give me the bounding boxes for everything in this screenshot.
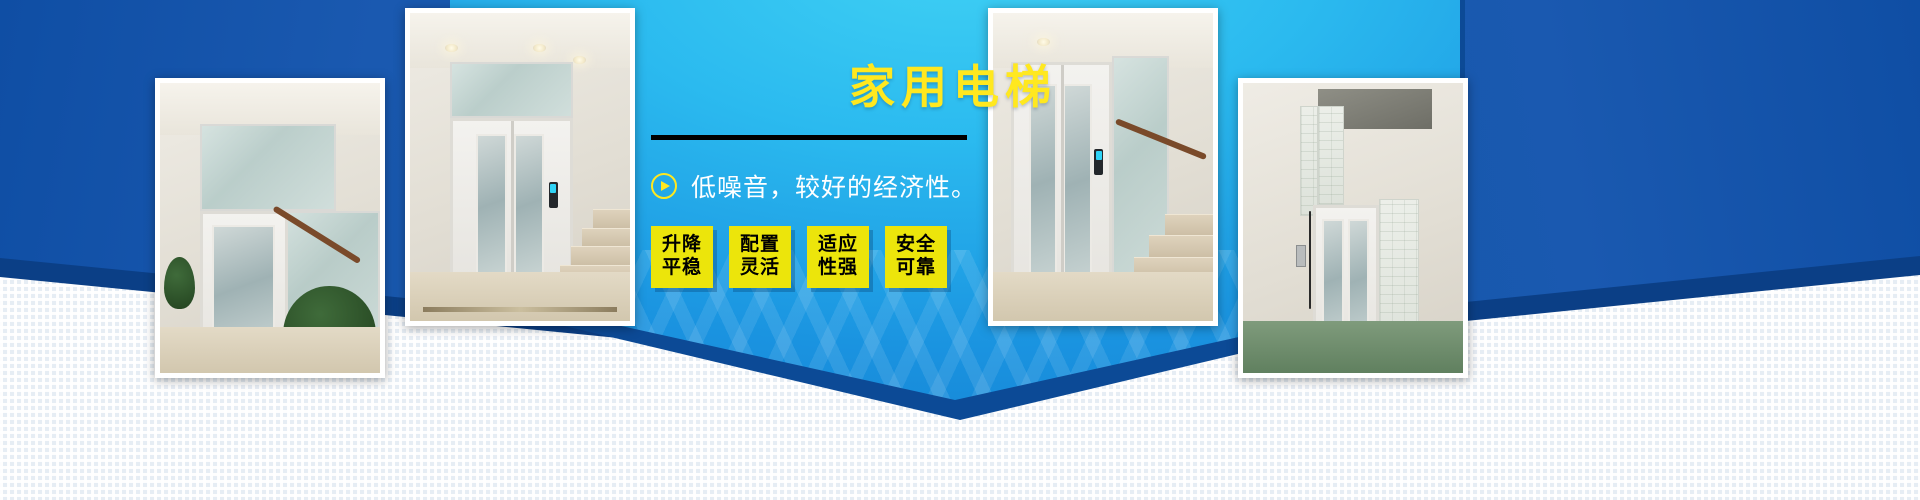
feature-badge[interactable]: 适应 性强 [807, 226, 869, 288]
feature-badge-line2: 平稳 [662, 257, 702, 279]
feature-badge[interactable]: 安全 可靠 [885, 226, 947, 288]
feature-badge-list: 升降 平稳 配置 灵活 适应 性强 安全 可靠 [651, 226, 1275, 288]
feature-badge[interactable]: 升降 平稳 [651, 226, 713, 288]
banner-content: 家用电梯 低噪音，较好的经济性。 升降 平稳 配置 灵活 适应 性强 安全 可靠 [655, 62, 1275, 288]
photo-card-1[interactable] [155, 78, 385, 378]
feature-badge-line1: 配置 [740, 234, 780, 256]
feature-badge[interactable]: 配置 灵活 [729, 226, 791, 288]
tagline-text: 低噪音，较好的经济性。 [691, 168, 977, 204]
play-circle-icon [651, 173, 677, 199]
feature-badge-line2: 灵活 [740, 257, 780, 279]
feature-badge-line2: 性强 [818, 257, 858, 279]
feature-badge-line1: 适应 [818, 234, 858, 256]
home-elevator-banner: 家用电梯 低噪音，较好的经济性。 升降 平稳 配置 灵活 适应 性强 安全 可靠 [0, 0, 1920, 500]
photo-4-image [1243, 83, 1463, 373]
photo-1-image [160, 83, 380, 373]
photo-2-image [410, 13, 630, 321]
feature-badge-line1: 升降 [662, 234, 702, 256]
feature-badge-line1: 安全 [896, 234, 936, 256]
feature-badge-line2: 可靠 [896, 257, 936, 279]
title-divider [651, 135, 967, 140]
photo-card-2[interactable] [405, 8, 635, 326]
page-title: 家用电梯 [631, 62, 1275, 113]
tagline-row: 低噪音，较好的经济性。 [651, 168, 1275, 204]
